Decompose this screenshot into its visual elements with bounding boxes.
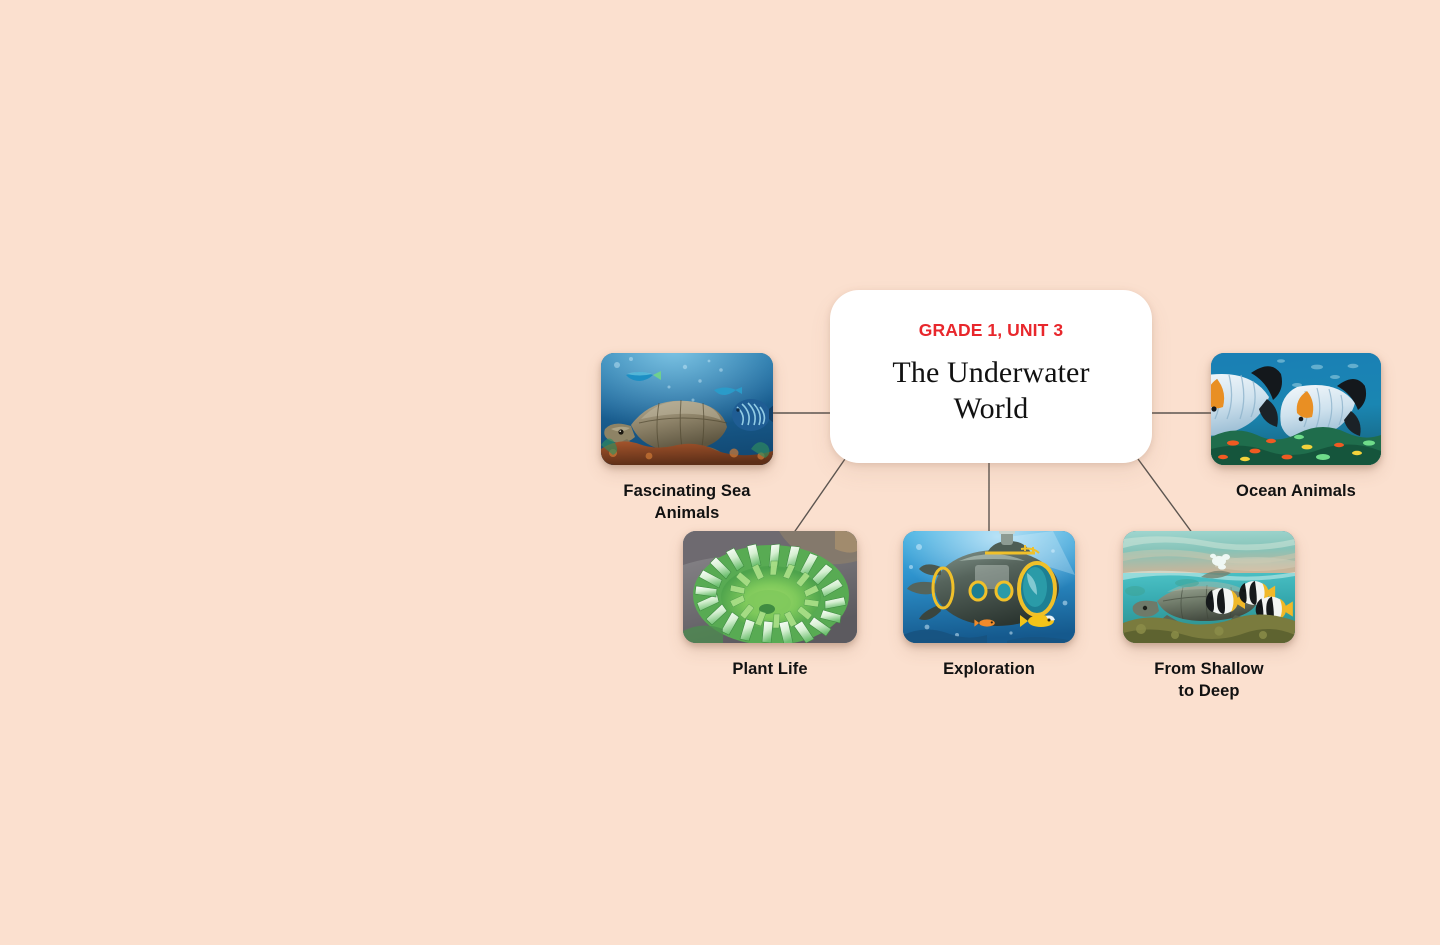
mindmap-node-from-shallow-to-deep[interactable]: From Shallow to Deep [1123,531,1295,702]
mind-map-canvas: GRADE 1, UNIT 3 The Underwater World [0,0,1440,945]
mindmap-node-plant-life[interactable]: Plant Life [683,531,857,680]
node-label-plant-life: Plant Life [683,658,857,680]
node-label-exploration: Exploration [903,658,1075,680]
butterflyfish-photo[interactable] [1211,353,1381,465]
unit-kicker-label: GRADE 1, UNIT 3 [919,322,1063,340]
green-sea-anemone-photo[interactable] [683,531,857,643]
mindmap-node-exploration[interactable]: Exploration [903,531,1075,680]
connector-to-plant-life [793,459,845,534]
center-topic-title: The Underwater World [866,355,1116,428]
node-label-from-shallow-to-deep: From Shallow to Deep [1123,658,1295,702]
center-topic-card[interactable]: GRADE 1, UNIT 3 The Underwater World [830,290,1152,463]
mindmap-node-ocean-animals[interactable]: Ocean Animals [1211,353,1381,502]
node-label-fascinating-sea-animals: Fascinating Sea Animals [601,480,773,524]
connector-to-from-shallow-to-deep [1138,459,1193,534]
shallow-water-turtle-photo[interactable] [1123,531,1295,643]
mindmap-node-fascinating-sea-animals[interactable]: Fascinating Sea Animals [601,353,773,524]
node-label-ocean-animals: Ocean Animals [1211,480,1381,502]
sea-turtle-photo[interactable] [601,353,773,465]
submarine-illustration[interactable] [903,531,1075,643]
